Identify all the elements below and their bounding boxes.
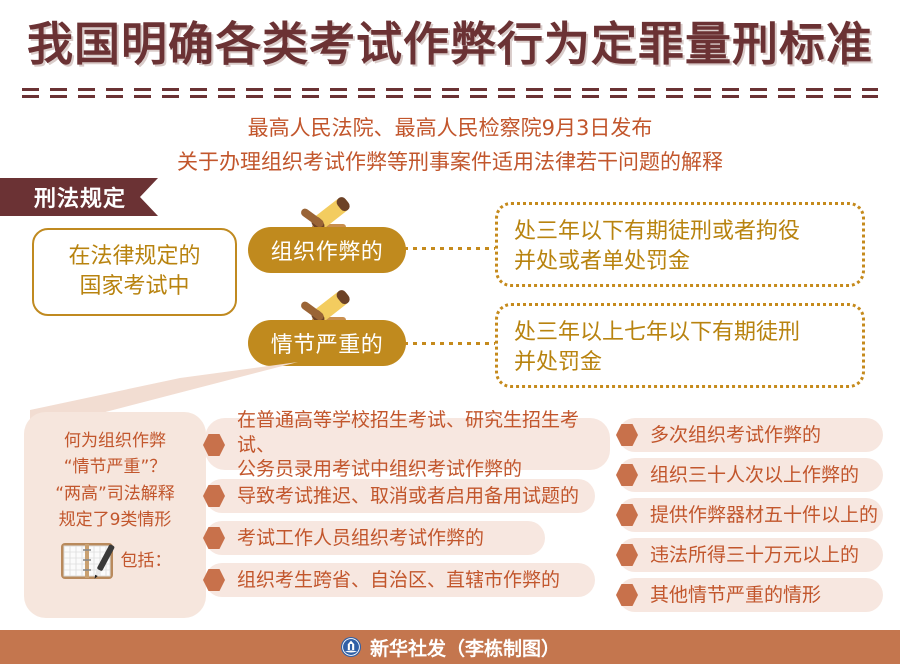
- list-item: 提供作弊器材五十件以上的: [618, 498, 883, 532]
- list-item: 违法所得三十万元以上的: [618, 538, 883, 572]
- section-tag-criminal-law: 刑法规定: [0, 178, 158, 216]
- hexagon-bullet-icon: [616, 503, 638, 527]
- list-item: 在普通高等学校招生考试、研究生招生考试、 公务员录用考试中组织考试作弊的: [205, 418, 610, 470]
- page-title: 我国明确各类考试作弊行为定罪量刑标准: [0, 18, 900, 71]
- hexagon-bullet-icon: [203, 526, 225, 550]
- title-divider: [22, 88, 878, 99]
- subtitle: 最高人民法院、最高人民检察院9月3日发布 关于办理组织考试作弊等刑事案件适用法律…: [0, 112, 900, 179]
- condition-line-1: 在法律规定的: [68, 242, 200, 272]
- list-item-label: 导致考试推迟、取消或者启用备用试题的: [237, 484, 579, 509]
- question-line-1: 何为组织作弊: [36, 428, 194, 454]
- list-item-label: 考试工作人员组织考试作弊的: [237, 526, 484, 551]
- hexagon-bullet-icon: [616, 583, 638, 607]
- footer-credit-text: 新华社发（李栋制图）: [370, 634, 560, 661]
- list-item-label: 在普通高等学校招生考试、研究生招生考试、 公务员录用考试中组织考试作弊的: [237, 408, 610, 482]
- question-line-2: “情节严重”？: [36, 454, 194, 480]
- hexagon-bullet-icon: [616, 423, 638, 447]
- list-item: 组织三十人次以上作弊的: [618, 458, 883, 492]
- list-item-label: 其他情节严重的情形: [650, 583, 821, 608]
- list-item: 组织考生跨省、自治区、直辖市作弊的: [205, 563, 595, 597]
- offense-pill-0[interactable]: 组织作弊的: [248, 227, 406, 273]
- penalty-box-1: 处三年以上七年以下有期徒刑 并处罚金: [495, 303, 865, 388]
- offense-pill-1[interactable]: 情节严重的: [248, 320, 406, 366]
- list-item-label: 组织考生跨省、自治区、直辖市作弊的: [237, 568, 560, 593]
- divider-line-top: [22, 88, 878, 91]
- list-item-label: 提供作弊器材五十件以上的: [650, 503, 878, 528]
- infographic-page: 我国明确各类考试作弊行为定罪量刑标准 最高人民法院、最高人民检察院9月3日发布 …: [0, 0, 900, 664]
- subtitle-line-1: 最高人民法院、最高人民检察院9月3日发布: [0, 112, 900, 146]
- condition-line-2: 国家考试中: [79, 272, 189, 302]
- condition-box: 在法律规定的 国家考试中: [32, 228, 237, 316]
- subtitle-line-2: 关于办理组织考试作弊等刑事案件适用法律若干问题的解释: [0, 146, 900, 180]
- list-item: 导致考试推迟、取消或者启用备用试题的: [205, 479, 595, 513]
- list-item-label: 多次组织考试作弊的: [650, 423, 821, 448]
- connector-line-0: [404, 247, 496, 250]
- connector-line-1: [404, 342, 496, 345]
- list-item-label: 违法所得三十万元以上的: [650, 543, 859, 568]
- hexagon-bullet-icon: [616, 543, 638, 567]
- notebook-pen-icon: [59, 539, 115, 583]
- hexagon-bullet-icon: [203, 484, 225, 508]
- list-item: 其他情节严重的情形: [618, 578, 883, 612]
- xinhua-logo-icon: [340, 636, 362, 658]
- divider-line-bottom: [22, 95, 878, 98]
- hexagon-bullet-icon: [203, 433, 225, 457]
- hexagon-bullet-icon: [203, 568, 225, 592]
- question-line-4: 规定了9类情形: [36, 507, 194, 533]
- penalty-box-0: 处三年以下有期徒刑或者拘役 并处或者单处罚金: [495, 202, 865, 287]
- includes-label: 包括：: [121, 548, 172, 574]
- list-item: 多次组织考试作弊的: [618, 418, 883, 452]
- footer-credit-bar: 新华社发（李栋制图）: [0, 630, 900, 664]
- list-item: 考试工作人员组织考试作弊的: [205, 521, 545, 555]
- list-item-label: 组织三十人次以上作弊的: [650, 463, 859, 488]
- hexagon-bullet-icon: [616, 463, 638, 487]
- question-line-3: “两高”司法解释: [36, 481, 194, 507]
- question-box: 何为组织作弊 “情节严重”？ “两高”司法解释 规定了9类情形: [24, 412, 206, 618]
